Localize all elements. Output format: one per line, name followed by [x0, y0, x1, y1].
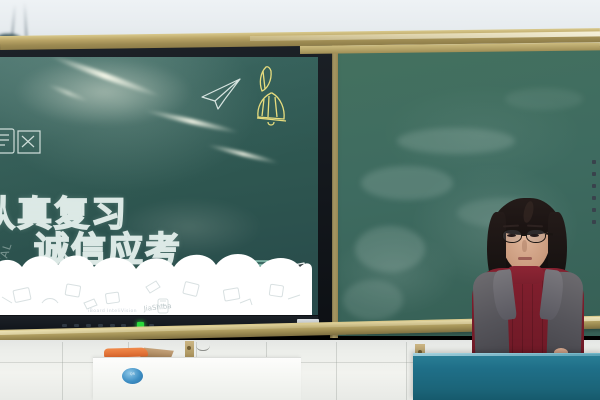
- bezel-side-vent: [592, 172, 596, 176]
- wall-bracket-hole: [187, 346, 191, 350]
- bezel-side-vent: [592, 220, 596, 224]
- mouth: [518, 257, 532, 260]
- cloud-band-decoration: JiaShiba: [0, 237, 312, 315]
- bell-icon: [250, 65, 294, 131]
- paper-airplane-icon: [198, 77, 244, 111]
- display-button[interactable]: [62, 324, 67, 327]
- glare-streak: [207, 143, 280, 165]
- classroom-scene: RINCAL 认真复习 诚信应考 18EZ06主题班会: [0, 0, 600, 400]
- tile-grout-line: [406, 342, 407, 400]
- smart-display-screen[interactable]: RINCAL 认真复习 诚信应考 18EZ06主题班会: [0, 57, 318, 315]
- display-brand-label: iBoard InteliVision: [88, 309, 137, 314]
- nose: [522, 240, 527, 252]
- tile-grout-line: [62, 342, 63, 400]
- bezel-side-vent: [592, 196, 596, 200]
- glasses-bridge: [521, 234, 527, 236]
- lectern-top-edge: [413, 353, 600, 356]
- display-button[interactable]: [86, 324, 91, 327]
- bezel-side-vent: [592, 160, 596, 164]
- eye-left: [507, 234, 516, 237]
- bezel-side-vent: [592, 208, 596, 212]
- glare-bloom: [14, 57, 194, 127]
- cabinet-sticker: [122, 368, 143, 384]
- bezel-side-vent: [592, 184, 596, 188]
- notebook-icon: [0, 125, 46, 157]
- display-button[interactable]: [74, 324, 79, 327]
- tile-grout-line: [336, 342, 337, 400]
- cabinet-sticker-label: QR: [125, 372, 140, 376]
- teal-lectern[interactable]: [413, 353, 600, 400]
- eye-right: [530, 234, 539, 237]
- teacher: [468, 196, 588, 361]
